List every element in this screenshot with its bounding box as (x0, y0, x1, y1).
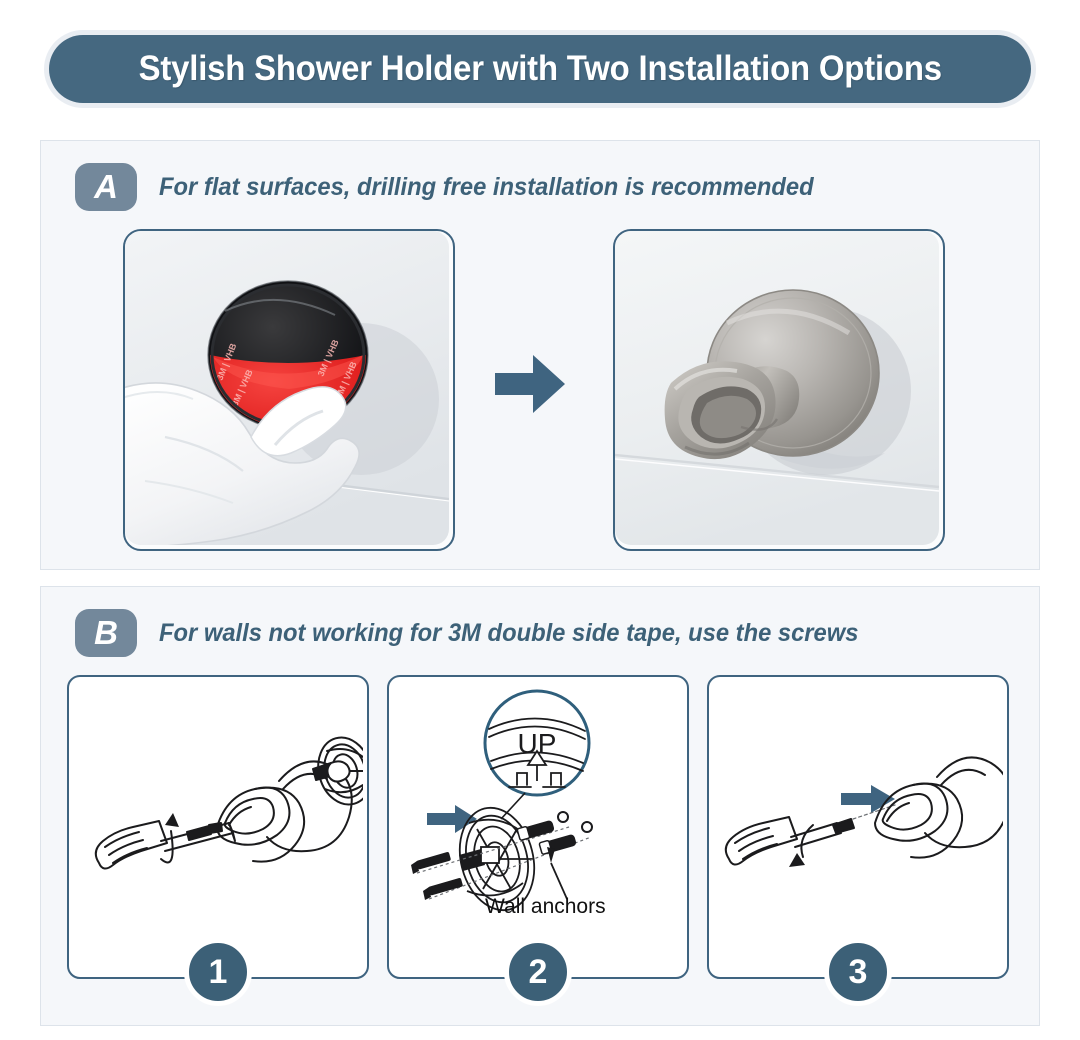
photo-card-mounted (613, 229, 945, 551)
section-b-badge: B (75, 609, 137, 657)
page-title: Stylish Shower Holder with Two Installat… (138, 49, 941, 89)
base-plate-screws-anchors: UP (389, 677, 683, 973)
section-b-header: B For walls not working for 3M double si… (75, 609, 895, 657)
section-a-badge: A (75, 163, 137, 211)
wall-anchor-icon (517, 812, 592, 899)
screwdriver-attaching-holder (709, 677, 1003, 973)
title-banner: Stylish Shower Holder with Two Installat… (44, 30, 1036, 108)
photo-card-adhesive: 3M | VHB 3M | VHB 3M | VHB 3M | VHB (123, 229, 455, 551)
wall-anchors-label: Wall anchors (485, 895, 606, 919)
step-1-artwork (69, 677, 367, 977)
step-3-artwork (709, 677, 1007, 977)
gloved-hand-pressing-adhesive-disc: 3M | VHB 3M | VHB 3M | VHB 3M | VHB (125, 231, 449, 545)
section-b: B For walls not working for 3M double si… (40, 586, 1040, 1026)
mounted-shower-holder (615, 231, 939, 545)
section-a: A For flat surfaces, drilling free insta… (40, 140, 1040, 570)
step-number-3: 3 (824, 938, 892, 1006)
step-card-3: 3 (707, 675, 1009, 979)
title-banner-fill: Stylish Shower Holder with Two Installat… (49, 35, 1031, 103)
step-card-2: UP (387, 675, 689, 979)
arrow-right-icon (493, 353, 567, 415)
step-card-1: 1 (67, 675, 369, 979)
section-b-caption: For walls not working for 3M double side… (159, 619, 858, 648)
step-2-artwork: UP (389, 677, 687, 977)
screwdriver-removing-holder (69, 677, 363, 973)
section-a-caption: For flat surfaces, drilling free install… (159, 173, 814, 202)
step-number-2: 2 (504, 938, 572, 1006)
step-number-1: 1 (184, 938, 252, 1006)
up-magnifier-callout: UP (485, 691, 589, 819)
section-a-header: A For flat surfaces, drilling free insta… (75, 163, 848, 211)
